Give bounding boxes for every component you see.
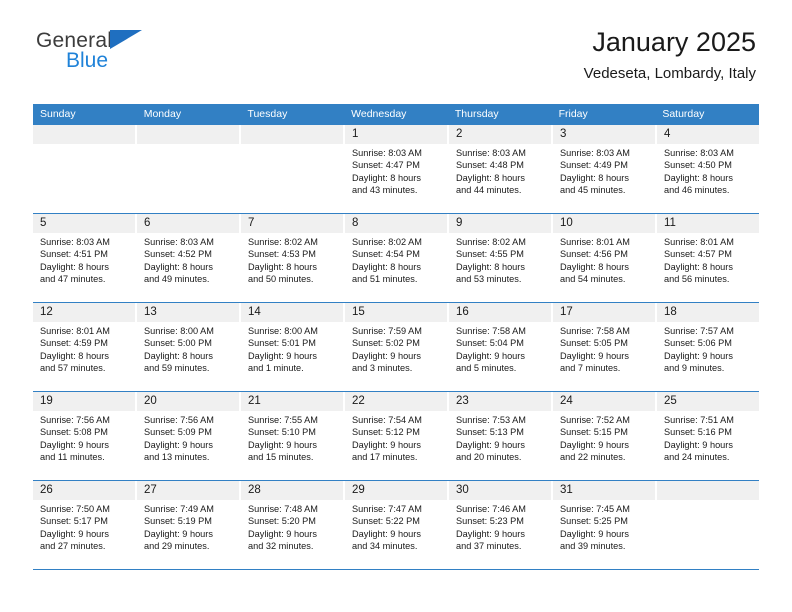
weekday-header-wednesday: Wednesday xyxy=(344,104,448,125)
week-row: 5Sunrise: 8:03 AMSunset: 4:51 PMDaylight… xyxy=(33,214,759,303)
sunset-time: Sunset: 5:01 PM xyxy=(248,337,339,349)
sunrise-time: Sunrise: 8:01 AM xyxy=(40,325,131,337)
calendar-page: General Blue January 2025 Vedeseta, Lomb… xyxy=(0,0,792,612)
sunset-time: Sunset: 4:49 PM xyxy=(560,159,651,171)
daylight-duration-line2: and 1 minute. xyxy=(248,362,339,374)
sunrise-time: Sunrise: 7:49 AM xyxy=(144,503,235,515)
day-number: 2 xyxy=(449,125,551,144)
sunrise-time: Sunrise: 7:58 AM xyxy=(456,325,547,337)
sunset-time: Sunset: 5:09 PM xyxy=(144,426,235,438)
daylight-duration-line1: Daylight: 9 hours xyxy=(40,528,131,540)
sunrise-time: Sunrise: 7:58 AM xyxy=(560,325,651,337)
day-sun-info: Sunrise: 7:49 AMSunset: 5:19 PMDaylight:… xyxy=(137,500,239,553)
daylight-duration-line1: Daylight: 9 hours xyxy=(248,528,339,540)
day-cell[interactable]: 14Sunrise: 8:00 AMSunset: 5:01 PMDayligh… xyxy=(241,303,345,391)
day-sun-info: Sunrise: 7:57 AMSunset: 5:06 PMDaylight:… xyxy=(657,322,759,375)
sunrise-time: Sunrise: 8:00 AM xyxy=(248,325,339,337)
day-number: 29 xyxy=(345,481,447,500)
weekday-header-monday: Monday xyxy=(137,104,241,125)
weekday-header-saturday: Saturday xyxy=(655,104,759,125)
day-sun-info: Sunrise: 7:54 AMSunset: 5:12 PMDaylight:… xyxy=(345,411,447,464)
page-header: General Blue January 2025 Vedeseta, Lomb… xyxy=(0,0,792,78)
day-number: 28 xyxy=(241,481,343,500)
sunrise-time: Sunrise: 7:45 AM xyxy=(560,503,651,515)
day-sun-info: Sunrise: 8:03 AMSunset: 4:49 PMDaylight:… xyxy=(553,144,655,197)
daylight-duration-line1: Daylight: 9 hours xyxy=(144,528,235,540)
daylight-duration-line2: and 50 minutes. xyxy=(248,273,339,285)
daylight-duration-line2: and 32 minutes. xyxy=(248,540,339,552)
sunset-time: Sunset: 5:06 PM xyxy=(664,337,755,349)
day-cell[interactable]: 19Sunrise: 7:56 AMSunset: 5:08 PMDayligh… xyxy=(33,392,137,480)
daylight-duration-line2: and 17 minutes. xyxy=(352,451,443,463)
day-cell[interactable]: 10Sunrise: 8:01 AMSunset: 4:56 PMDayligh… xyxy=(553,214,657,302)
daylight-duration-line1: Daylight: 8 hours xyxy=(144,350,235,362)
daylight-duration-line2: and 22 minutes. xyxy=(560,451,651,463)
sunrise-time: Sunrise: 7:57 AM xyxy=(664,325,755,337)
daylight-duration-line2: and 3 minutes. xyxy=(352,362,443,374)
day-sun-info: Sunrise: 8:02 AMSunset: 4:55 PMDaylight:… xyxy=(449,233,551,286)
day-number: 20 xyxy=(137,392,239,411)
day-cell[interactable]: 28Sunrise: 7:48 AMSunset: 5:20 PMDayligh… xyxy=(241,481,345,569)
day-cell[interactable]: 16Sunrise: 7:58 AMSunset: 5:04 PMDayligh… xyxy=(449,303,553,391)
day-cell[interactable]: 17Sunrise: 7:58 AMSunset: 5:05 PMDayligh… xyxy=(553,303,657,391)
day-number: 16 xyxy=(449,303,551,322)
day-number: 25 xyxy=(657,392,759,411)
daylight-duration-line1: Daylight: 8 hours xyxy=(248,261,339,273)
day-number: 30 xyxy=(449,481,551,500)
day-number: 19 xyxy=(33,392,135,411)
day-cell[interactable]: 25Sunrise: 7:51 AMSunset: 5:16 PMDayligh… xyxy=(657,392,759,480)
day-sun-info: Sunrise: 7:56 AMSunset: 5:09 PMDaylight:… xyxy=(137,411,239,464)
sunrise-time: Sunrise: 8:01 AM xyxy=(560,236,651,248)
sunrise-time: Sunrise: 7:47 AM xyxy=(352,503,443,515)
daylight-duration-line2: and 9 minutes. xyxy=(664,362,755,374)
day-number: 26 xyxy=(33,481,135,500)
daylight-duration-line1: Daylight: 9 hours xyxy=(248,439,339,451)
day-cell[interactable]: 15Sunrise: 7:59 AMSunset: 5:02 PMDayligh… xyxy=(345,303,449,391)
daylight-duration-line1: Daylight: 9 hours xyxy=(456,439,547,451)
sunset-time: Sunset: 4:48 PM xyxy=(456,159,547,171)
day-cell[interactable]: 23Sunrise: 7:53 AMSunset: 5:13 PMDayligh… xyxy=(449,392,553,480)
day-sun-info: Sunrise: 8:01 AMSunset: 4:56 PMDaylight:… xyxy=(553,233,655,286)
daylight-duration-line2: and 20 minutes. xyxy=(456,451,547,463)
sunset-time: Sunset: 4:50 PM xyxy=(664,159,755,171)
daylight-duration-line1: Daylight: 9 hours xyxy=(664,439,755,451)
sunrise-time: Sunrise: 8:03 AM xyxy=(352,147,443,159)
sunset-time: Sunset: 4:55 PM xyxy=(456,248,547,260)
weekday-header-row: Sunday Monday Tuesday Wednesday Thursday… xyxy=(33,104,759,125)
daylight-duration-line1: Daylight: 9 hours xyxy=(352,528,443,540)
daylight-duration-line1: Daylight: 9 hours xyxy=(352,439,443,451)
day-cell[interactable]: 2Sunrise: 8:03 AMSunset: 4:48 PMDaylight… xyxy=(449,125,553,213)
day-sun-info: Sunrise: 8:01 AMSunset: 4:59 PMDaylight:… xyxy=(33,322,135,375)
day-cell-empty xyxy=(657,481,759,569)
day-sun-info: Sunrise: 8:03 AMSunset: 4:52 PMDaylight:… xyxy=(137,233,239,286)
day-number: 4 xyxy=(657,125,759,144)
daylight-duration-line1: Daylight: 8 hours xyxy=(144,261,235,273)
sunrise-time: Sunrise: 7:53 AM xyxy=(456,414,547,426)
day-number: 21 xyxy=(241,392,343,411)
daylight-duration-line2: and 39 minutes. xyxy=(560,540,651,552)
day-number xyxy=(657,481,759,500)
sunrise-time: Sunrise: 7:54 AM xyxy=(352,414,443,426)
sunrise-time: Sunrise: 7:56 AM xyxy=(40,414,131,426)
daylight-duration-line1: Daylight: 9 hours xyxy=(456,528,547,540)
day-cell-empty xyxy=(137,125,241,213)
day-cell[interactable]: 12Sunrise: 8:01 AMSunset: 4:59 PMDayligh… xyxy=(33,303,137,391)
day-number xyxy=(137,125,239,144)
sunrise-time: Sunrise: 8:00 AM xyxy=(144,325,235,337)
daylight-duration-line1: Daylight: 8 hours xyxy=(664,261,755,273)
sunrise-time: Sunrise: 7:59 AM xyxy=(352,325,443,337)
daylight-duration-line2: and 11 minutes. xyxy=(40,451,131,463)
sunset-time: Sunset: 5:12 PM xyxy=(352,426,443,438)
daylight-duration-line2: and 49 minutes. xyxy=(144,273,235,285)
day-cell[interactable]: 29Sunrise: 7:47 AMSunset: 5:22 PMDayligh… xyxy=(345,481,449,569)
sunrise-time: Sunrise: 7:56 AM xyxy=(144,414,235,426)
sunrise-time: Sunrise: 8:03 AM xyxy=(40,236,131,248)
day-cell[interactable]: 1Sunrise: 8:03 AMSunset: 4:47 PMDaylight… xyxy=(345,125,449,213)
day-cell[interactable]: 3Sunrise: 8:03 AMSunset: 4:49 PMDaylight… xyxy=(553,125,657,213)
day-sun-info: Sunrise: 7:48 AMSunset: 5:20 PMDaylight:… xyxy=(241,500,343,553)
day-cell[interactable]: 31Sunrise: 7:45 AMSunset: 5:25 PMDayligh… xyxy=(553,481,657,569)
day-cell[interactable]: 30Sunrise: 7:46 AMSunset: 5:23 PMDayligh… xyxy=(449,481,553,569)
sunset-time: Sunset: 5:13 PM xyxy=(456,426,547,438)
sunset-time: Sunset: 4:56 PM xyxy=(560,248,651,260)
week-row: 19Sunrise: 7:56 AMSunset: 5:08 PMDayligh… xyxy=(33,392,759,481)
day-sun-info: Sunrise: 8:03 AMSunset: 4:48 PMDaylight:… xyxy=(449,144,551,197)
daylight-duration-line2: and 27 minutes. xyxy=(40,540,131,552)
day-cell[interactable]: 11Sunrise: 8:01 AMSunset: 4:57 PMDayligh… xyxy=(657,214,759,302)
day-sun-info: Sunrise: 7:51 AMSunset: 5:16 PMDaylight:… xyxy=(657,411,759,464)
day-cell[interactable]: 27Sunrise: 7:49 AMSunset: 5:19 PMDayligh… xyxy=(137,481,241,569)
day-sun-info: Sunrise: 7:46 AMSunset: 5:23 PMDaylight:… xyxy=(449,500,551,553)
day-number xyxy=(241,125,343,144)
sunset-time: Sunset: 5:04 PM xyxy=(456,337,547,349)
day-cell[interactable]: 7Sunrise: 8:02 AMSunset: 4:53 PMDaylight… xyxy=(241,214,345,302)
day-cell[interactable]: 13Sunrise: 8:00 AMSunset: 5:00 PMDayligh… xyxy=(137,303,241,391)
daylight-duration-line1: Daylight: 8 hours xyxy=(560,172,651,184)
day-sun-info: Sunrise: 7:53 AMSunset: 5:13 PMDaylight:… xyxy=(449,411,551,464)
day-sun-info: Sunrise: 7:58 AMSunset: 5:04 PMDaylight:… xyxy=(449,322,551,375)
daylight-duration-line2: and 37 minutes. xyxy=(456,540,547,552)
calendar-grid: Sunday Monday Tuesday Wednesday Thursday… xyxy=(33,104,759,570)
page-subtitle: Vedeseta, Lombardy, Italy xyxy=(584,64,756,84)
title-block: January 2025 Vedeseta, Lombardy, Italy xyxy=(584,26,756,84)
day-number: 11 xyxy=(657,214,759,233)
daylight-duration-line2: and 34 minutes. xyxy=(352,540,443,552)
day-sun-info: Sunrise: 7:45 AMSunset: 5:25 PMDaylight:… xyxy=(553,500,655,553)
sunset-time: Sunset: 4:47 PM xyxy=(352,159,443,171)
daylight-duration-line1: Daylight: 8 hours xyxy=(40,350,131,362)
sunset-time: Sunset: 5:17 PM xyxy=(40,515,131,527)
day-number: 22 xyxy=(345,392,447,411)
daylight-duration-line1: Daylight: 9 hours xyxy=(456,350,547,362)
sunset-time: Sunset: 5:08 PM xyxy=(40,426,131,438)
week-row: 26Sunrise: 7:50 AMSunset: 5:17 PMDayligh… xyxy=(33,481,759,570)
day-sun-info: Sunrise: 8:03 AMSunset: 4:51 PMDaylight:… xyxy=(33,233,135,286)
day-number: 9 xyxy=(449,214,551,233)
day-sun-info: Sunrise: 7:52 AMSunset: 5:15 PMDaylight:… xyxy=(553,411,655,464)
day-number: 12 xyxy=(33,303,135,322)
sunrise-time: Sunrise: 7:52 AM xyxy=(560,414,651,426)
logo-text-blue: Blue xyxy=(66,50,236,72)
sunset-time: Sunset: 5:02 PM xyxy=(352,337,443,349)
day-sun-info: Sunrise: 8:03 AMSunset: 4:47 PMDaylight:… xyxy=(345,144,447,197)
sunrise-time: Sunrise: 7:51 AM xyxy=(664,414,755,426)
daylight-duration-line2: and 43 minutes. xyxy=(352,184,443,196)
weekday-header-tuesday: Tuesday xyxy=(240,104,344,125)
day-sun-info: Sunrise: 7:55 AMSunset: 5:10 PMDaylight:… xyxy=(241,411,343,464)
sunset-time: Sunset: 4:52 PM xyxy=(144,248,235,260)
daylight-duration-line1: Daylight: 8 hours xyxy=(456,261,547,273)
day-cell[interactable]: 20Sunrise: 7:56 AMSunset: 5:09 PMDayligh… xyxy=(137,392,241,480)
daylight-duration-line1: Daylight: 9 hours xyxy=(40,439,131,451)
day-number: 14 xyxy=(241,303,343,322)
daylight-duration-line1: Daylight: 9 hours xyxy=(664,350,755,362)
sunset-time: Sunset: 5:05 PM xyxy=(560,337,651,349)
daylight-duration-line2: and 45 minutes. xyxy=(560,184,651,196)
daylight-duration-line2: and 57 minutes. xyxy=(40,362,131,374)
daylight-duration-line2: and 56 minutes. xyxy=(664,273,755,285)
daylight-duration-line1: Daylight: 8 hours xyxy=(40,261,131,273)
sunrise-time: Sunrise: 8:02 AM xyxy=(352,236,443,248)
daylight-duration-line1: Daylight: 8 hours xyxy=(352,261,443,273)
day-sun-info: Sunrise: 8:02 AMSunset: 4:54 PMDaylight:… xyxy=(345,233,447,286)
day-sun-info: Sunrise: 8:03 AMSunset: 4:50 PMDaylight:… xyxy=(657,144,759,197)
sunset-time: Sunset: 5:19 PM xyxy=(144,515,235,527)
day-cell[interactable]: 21Sunrise: 7:55 AMSunset: 5:10 PMDayligh… xyxy=(241,392,345,480)
daylight-duration-line1: Daylight: 9 hours xyxy=(248,350,339,362)
sunrise-time: Sunrise: 7:46 AM xyxy=(456,503,547,515)
sunset-time: Sunset: 4:59 PM xyxy=(40,337,131,349)
page-title: January 2025 xyxy=(584,26,756,58)
day-number: 15 xyxy=(345,303,447,322)
day-cell[interactable]: 6Sunrise: 8:03 AMSunset: 4:52 PMDaylight… xyxy=(137,214,241,302)
day-number: 6 xyxy=(137,214,239,233)
day-number: 3 xyxy=(553,125,655,144)
day-cell-empty xyxy=(241,125,345,213)
sunrise-time: Sunrise: 7:55 AM xyxy=(248,414,339,426)
sunset-time: Sunset: 5:23 PM xyxy=(456,515,547,527)
daylight-duration-line2: and 53 minutes. xyxy=(456,273,547,285)
daylight-duration-line2: and 24 minutes. xyxy=(664,451,755,463)
weeks-container: 1Sunrise: 8:03 AMSunset: 4:47 PMDaylight… xyxy=(33,125,759,570)
day-cell[interactable]: 8Sunrise: 8:02 AMSunset: 4:54 PMDaylight… xyxy=(345,214,449,302)
daylight-duration-line2: and 7 minutes. xyxy=(560,362,651,374)
day-sun-info: Sunrise: 8:00 AMSunset: 5:00 PMDaylight:… xyxy=(137,322,239,375)
day-sun-info: Sunrise: 7:58 AMSunset: 5:05 PMDaylight:… xyxy=(553,322,655,375)
day-number: 27 xyxy=(137,481,239,500)
sunrise-time: Sunrise: 8:01 AM xyxy=(664,236,755,248)
sunrise-time: Sunrise: 8:03 AM xyxy=(144,236,235,248)
day-number: 5 xyxy=(33,214,135,233)
sunset-time: Sunset: 4:57 PM xyxy=(664,248,755,260)
daylight-duration-line1: Daylight: 9 hours xyxy=(560,350,651,362)
daylight-duration-line1: Daylight: 9 hours xyxy=(352,350,443,362)
general-blue-logo: General Blue xyxy=(36,30,236,86)
day-cell[interactable]: 4Sunrise: 8:03 AMSunset: 4:50 PMDaylight… xyxy=(657,125,759,213)
day-sun-info: Sunrise: 8:00 AMSunset: 5:01 PMDaylight:… xyxy=(241,322,343,375)
daylight-duration-line1: Daylight: 9 hours xyxy=(560,439,651,451)
weekday-header-thursday: Thursday xyxy=(448,104,552,125)
weekday-header-sunday: Sunday xyxy=(33,104,137,125)
daylight-duration-line2: and 47 minutes. xyxy=(40,273,131,285)
sunset-time: Sunset: 4:53 PM xyxy=(248,248,339,260)
day-number: 23 xyxy=(449,392,551,411)
sunrise-time: Sunrise: 7:50 AM xyxy=(40,503,131,515)
day-sun-info: Sunrise: 7:50 AMSunset: 5:17 PMDaylight:… xyxy=(33,500,135,553)
daylight-duration-line2: and 59 minutes. xyxy=(144,362,235,374)
daylight-duration-line2: and 54 minutes. xyxy=(560,273,651,285)
sunset-time: Sunset: 5:25 PM xyxy=(560,515,651,527)
day-number: 7 xyxy=(241,214,343,233)
daylight-duration-line1: Daylight: 8 hours xyxy=(664,172,755,184)
day-number: 13 xyxy=(137,303,239,322)
day-cell[interactable]: 24Sunrise: 7:52 AMSunset: 5:15 PMDayligh… xyxy=(553,392,657,480)
sunrise-time: Sunrise: 8:03 AM xyxy=(456,147,547,159)
sunrise-time: Sunrise: 8:03 AM xyxy=(664,147,755,159)
day-cell[interactable]: 18Sunrise: 7:57 AMSunset: 5:06 PMDayligh… xyxy=(657,303,759,391)
daylight-duration-line1: Daylight: 9 hours xyxy=(144,439,235,451)
daylight-duration-line1: Daylight: 8 hours xyxy=(560,261,651,273)
day-sun-info: Sunrise: 7:59 AMSunset: 5:02 PMDaylight:… xyxy=(345,322,447,375)
daylight-duration-line1: Daylight: 8 hours xyxy=(456,172,547,184)
day-cell[interactable]: 22Sunrise: 7:54 AMSunset: 5:12 PMDayligh… xyxy=(345,392,449,480)
day-cell[interactable]: 5Sunrise: 8:03 AMSunset: 4:51 PMDaylight… xyxy=(33,214,137,302)
sunrise-time: Sunrise: 8:03 AM xyxy=(560,147,651,159)
daylight-duration-line2: and 44 minutes. xyxy=(456,184,547,196)
sunrise-time: Sunrise: 7:48 AM xyxy=(248,503,339,515)
day-sun-info: Sunrise: 7:56 AMSunset: 5:08 PMDaylight:… xyxy=(33,411,135,464)
day-number: 17 xyxy=(553,303,655,322)
daylight-duration-line2: and 5 minutes. xyxy=(456,362,547,374)
day-number: 31 xyxy=(553,481,655,500)
daylight-duration-line2: and 13 minutes. xyxy=(144,451,235,463)
weekday-header-friday: Friday xyxy=(552,104,656,125)
sunrise-time: Sunrise: 8:02 AM xyxy=(456,236,547,248)
day-sun-info: Sunrise: 7:47 AMSunset: 5:22 PMDaylight:… xyxy=(345,500,447,553)
daylight-duration-line1: Daylight: 8 hours xyxy=(352,172,443,184)
week-row: 12Sunrise: 8:01 AMSunset: 4:59 PMDayligh… xyxy=(33,303,759,392)
sunset-time: Sunset: 5:15 PM xyxy=(560,426,651,438)
week-row: 1Sunrise: 8:03 AMSunset: 4:47 PMDaylight… xyxy=(33,125,759,214)
day-number: 24 xyxy=(553,392,655,411)
daylight-duration-line2: and 46 minutes. xyxy=(664,184,755,196)
sunset-time: Sunset: 5:16 PM xyxy=(664,426,755,438)
sunset-time: Sunset: 5:20 PM xyxy=(248,515,339,527)
logo-triangle-icon xyxy=(110,30,142,49)
sunrise-time: Sunrise: 8:02 AM xyxy=(248,236,339,248)
day-cell[interactable]: 9Sunrise: 8:02 AMSunset: 4:55 PMDaylight… xyxy=(449,214,553,302)
sunset-time: Sunset: 4:54 PM xyxy=(352,248,443,260)
sunset-time: Sunset: 4:51 PM xyxy=(40,248,131,260)
day-number: 18 xyxy=(657,303,759,322)
daylight-duration-line2: and 15 minutes. xyxy=(248,451,339,463)
day-number xyxy=(33,125,135,144)
daylight-duration-line2: and 51 minutes. xyxy=(352,273,443,285)
day-cell-empty xyxy=(33,125,137,213)
day-sun-info: Sunrise: 8:01 AMSunset: 4:57 PMDaylight:… xyxy=(657,233,759,286)
daylight-duration-line1: Daylight: 9 hours xyxy=(560,528,651,540)
sunset-time: Sunset: 5:10 PM xyxy=(248,426,339,438)
sunset-time: Sunset: 5:22 PM xyxy=(352,515,443,527)
day-number: 10 xyxy=(553,214,655,233)
day-sun-info: Sunrise: 8:02 AMSunset: 4:53 PMDaylight:… xyxy=(241,233,343,286)
day-cell[interactable]: 26Sunrise: 7:50 AMSunset: 5:17 PMDayligh… xyxy=(33,481,137,569)
daylight-duration-line2: and 29 minutes. xyxy=(144,540,235,552)
sunset-time: Sunset: 5:00 PM xyxy=(144,337,235,349)
day-number: 8 xyxy=(345,214,447,233)
day-number: 1 xyxy=(345,125,447,144)
